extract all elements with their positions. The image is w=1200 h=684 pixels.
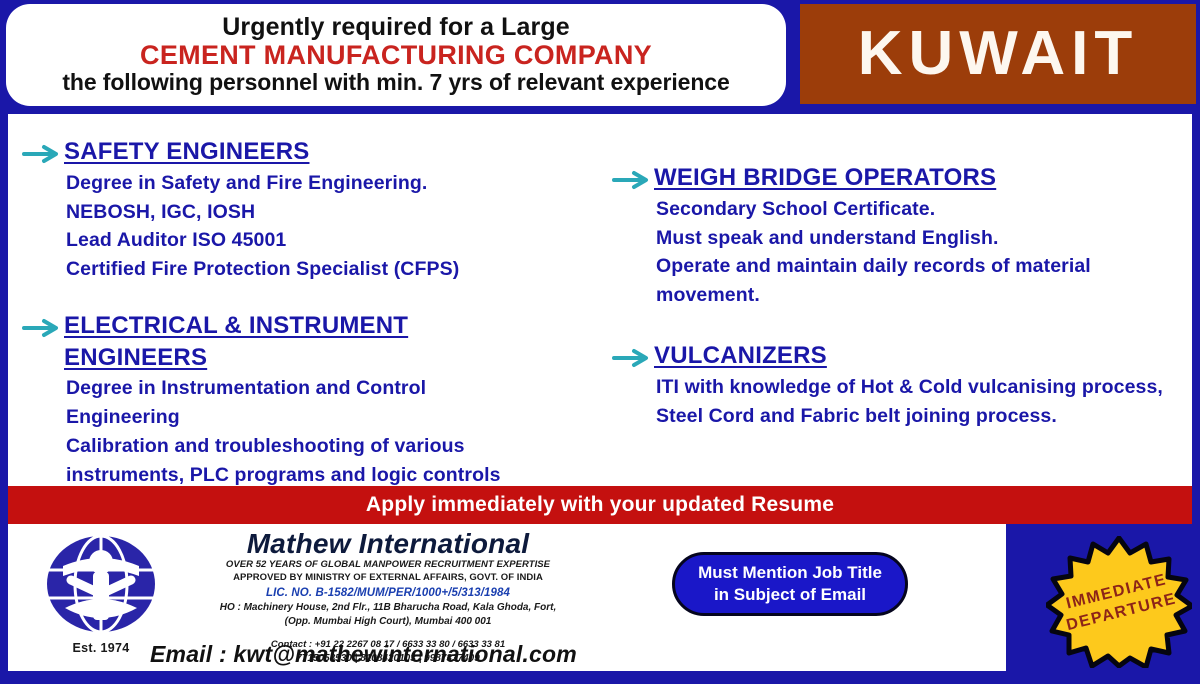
job-requirements: Degree in Instrumentation and Control En…: [66, 374, 598, 489]
job-requirements: Degree in Safety and Fire Engineering. N…: [66, 169, 598, 284]
job-advertisement-poster: Urgently required for a Large CEMENT MAN…: [0, 0, 1200, 675]
immediate-departure-badge: IMMEDIATE DEPARTURE: [1046, 536, 1192, 668]
job-entry: ELECTRICAL & INSTRUMENT ENGINEERS Degree…: [22, 310, 598, 490]
job-requirement-line: Must speak and understand English.: [656, 224, 1182, 253]
company-address-line-2: (Opp. Mumbai High Court), Mumbai 400 001: [188, 615, 588, 629]
header-title-box: Urgently required for a Large CEMENT MAN…: [6, 4, 786, 106]
arrow-right-icon: [612, 167, 654, 193]
country-label: KUWAIT: [858, 23, 1139, 85]
poster-header: Urgently required for a Large CEMENT MAN…: [0, 0, 1200, 110]
company-email[interactable]: Email : kwt@mathewinternational.com: [150, 641, 577, 668]
job-requirement-line: NEBOSH, IGC, IOSH: [66, 198, 598, 227]
country-banner: KUWAIT: [800, 4, 1196, 104]
job-heading: SAFETY ENGINEERS: [22, 136, 598, 168]
job-heading: VULCANIZERS: [612, 340, 1182, 372]
job-title: SAFETY ENGINEERS: [64, 136, 309, 168]
job-requirement-line: Degree in Safety and Fire Engineering.: [66, 169, 598, 198]
jobs-column-left: SAFETY ENGINEERS Degree in Safety and Fi…: [8, 114, 608, 486]
jobs-panel: SAFETY ENGINEERS Degree in Safety and Fi…: [8, 114, 1192, 486]
arrow-right-icon: [22, 141, 64, 167]
company-name: Mathew International: [188, 528, 588, 559]
arrow-right-icon: [22, 315, 64, 341]
subject-note-badge: Must Mention Job Title in Subject of Ema…: [672, 552, 908, 616]
job-entry: WEIGH BRIDGE OPERATORS Secondary School …: [612, 162, 1182, 310]
job-title: VULCANIZERS: [654, 340, 827, 372]
job-requirement-line: ITI with knowledge of Hot & Cold vulcani…: [656, 373, 1176, 431]
apply-banner-text: Apply immediately with your updated Resu…: [366, 493, 834, 517]
job-entry: VULCANIZERS ITI with knowledge of Hot & …: [612, 340, 1182, 430]
job-requirement-line: Certified Fire Protection Specialist (CF…: [66, 255, 598, 284]
job-requirement-line: Calibration and troubleshooting of vario…: [66, 432, 576, 490]
header-company-line: CEMENT MANUFACTURING COMPANY: [140, 40, 652, 70]
header-line-1: Urgently required for a Large: [222, 14, 569, 40]
subject-note-line-1: Must Mention Job Title: [698, 562, 882, 584]
job-heading: WEIGH BRIDGE OPERATORS: [612, 162, 1182, 194]
company-approval: APPROVED BY MINISTRY OF EXTERNAL AFFAIRS…: [188, 572, 588, 585]
job-requirement-line: Lead Auditor ISO 45001: [66, 226, 598, 255]
globe-logo-icon: [45, 532, 157, 640]
job-requirement-line: Operate and maintain daily records of ma…: [656, 252, 1111, 310]
jobs-column-right: WEIGH BRIDGE OPERATORS Secondary School …: [608, 114, 1192, 486]
company-licence: LIC. NO. B-1582/MUM/PER/1000+/5/313/1984: [188, 585, 588, 601]
job-requirement-line: Secondary School Certificate.: [656, 195, 1182, 224]
job-title: WEIGH BRIDGE OPERATORS: [654, 162, 996, 194]
logo-established-caption: Est. 1974: [73, 641, 130, 655]
company-tagline: OVER 52 YEARS OF GLOBAL MANPOWER RECRUIT…: [188, 559, 588, 572]
job-requirements: Secondary School Certificate. Must speak…: [656, 195, 1182, 310]
arrow-right-icon: [612, 345, 654, 371]
job-requirement-line: Degree in Instrumentation and Control En…: [66, 374, 526, 432]
header-line-3: the following personnel with min. 7 yrs …: [62, 70, 729, 96]
company-address-line-1: HO : Machinery House, 2nd Flr., 11B Bhar…: [188, 601, 588, 615]
subject-note-line-2: in Subject of Email: [714, 584, 866, 606]
apply-banner: Apply immediately with your updated Resu…: [8, 486, 1192, 524]
job-title: ELECTRICAL & INSTRUMENT ENGINEERS: [64, 310, 484, 373]
job-entry: SAFETY ENGINEERS Degree in Safety and Fi…: [22, 136, 598, 284]
job-requirements: ITI with knowledge of Hot & Cold vulcani…: [656, 373, 1182, 431]
job-heading: ELECTRICAL & INSTRUMENT ENGINEERS: [22, 310, 598, 373]
